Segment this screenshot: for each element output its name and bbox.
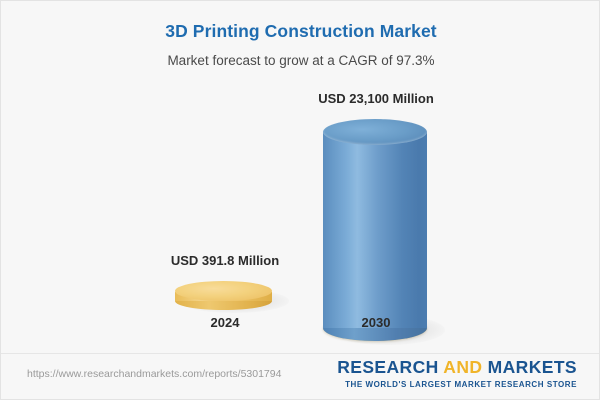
bar-top-ellipse-2024 <box>175 281 272 301</box>
bar-top-ellipse-2030 <box>323 119 427 145</box>
bar-value-label-2030: USD 23,100 Million <box>276 91 476 106</box>
page-title: 3D Printing Construction Market <box>1 21 600 42</box>
bar-cylinder-2024[interactable] <box>175 281 275 309</box>
axis-category-label-2024: 2024 <box>175 315 275 330</box>
brand-word-and: AND <box>443 357 482 377</box>
source-url[interactable]: https://www.researchandmarkets.com/repor… <box>27 368 281 380</box>
bar-cylinder-2030[interactable] <box>323 119 429 347</box>
brand-logo[interactable]: RESEARCH AND MARKETS THE WORLD'S LARGEST… <box>337 359 577 389</box>
bar-body-2030 <box>323 132 427 328</box>
footer-divider <box>1 353 600 354</box>
brand-word-markets: MARKETS <box>488 357 577 377</box>
brand-tagline: THE WORLD'S LARGEST MARKET RESEARCH STOR… <box>337 381 577 389</box>
brand-word-research: RESEARCH <box>337 357 438 377</box>
axis-category-label-2030: 2030 <box>326 315 426 330</box>
chart-canvas: 3D Printing Construction Market Market f… <box>0 0 600 400</box>
bar-value-label-2024: USD 391.8 Million <box>125 253 325 268</box>
chart-subtitle: Market forecast to grow at a CAGR of 97.… <box>1 53 600 68</box>
plot-area: USD 391.8 Million 2024 USD 23,100 Millio… <box>1 81 600 346</box>
brand-wordmark: RESEARCH AND MARKETS <box>337 359 577 377</box>
